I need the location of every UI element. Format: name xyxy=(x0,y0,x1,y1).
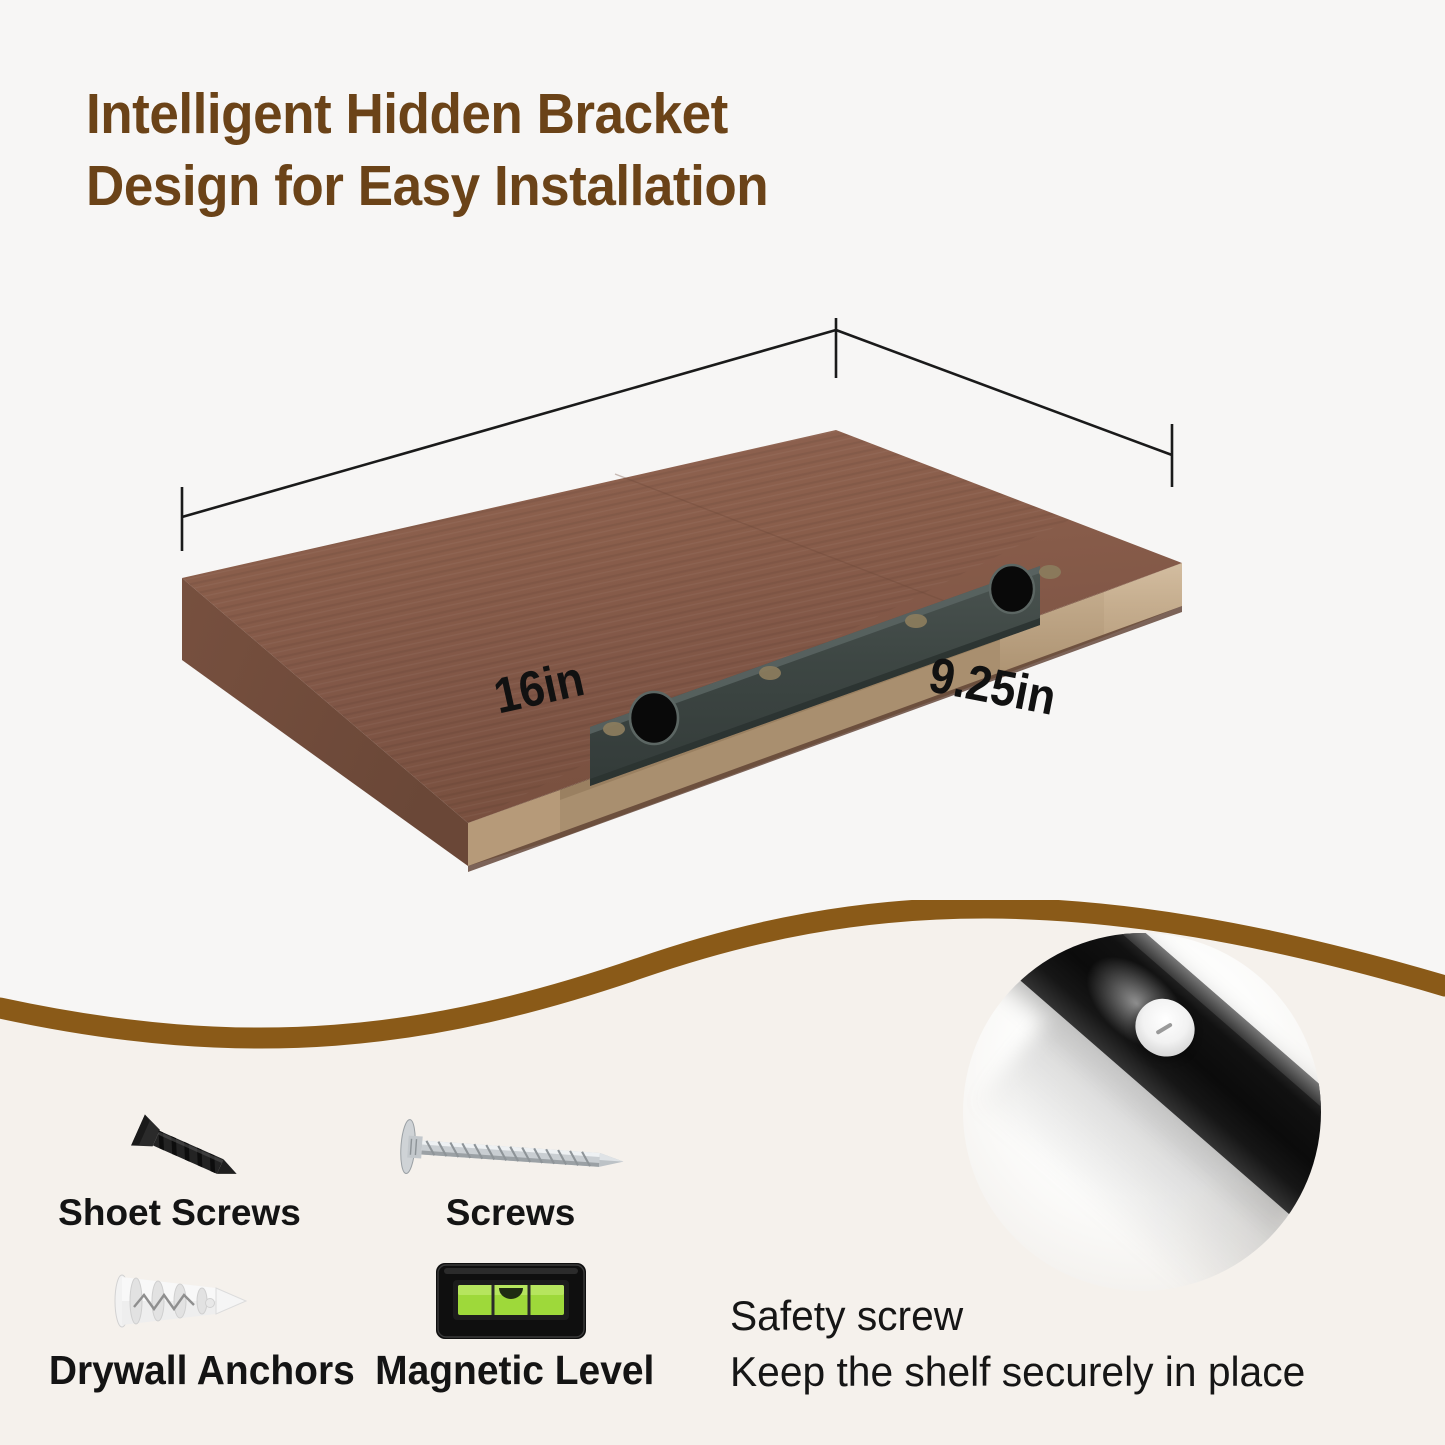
drywall-anchors-art xyxy=(42,1255,317,1347)
white-drywall-anchor-icon xyxy=(42,1255,317,1347)
dimension-depth-label: 9.25in xyxy=(924,646,1060,727)
black-countersunk-screw-icon xyxy=(42,1100,317,1192)
bubble-level-icon xyxy=(368,1255,653,1347)
silver-truss-head-screw-icon xyxy=(368,1100,653,1192)
hardware-item-shoet-screws: Shoet Screws xyxy=(42,1100,317,1234)
hardware-label-screws: Screws xyxy=(368,1192,653,1234)
shoet-screws-art xyxy=(42,1100,317,1192)
hardware-item-magnetic-level: Magnetic Level xyxy=(368,1255,653,1394)
hardware-item-drywall-anchors: Drywall Anchors xyxy=(42,1255,317,1394)
dimension-labels: 16in 9.25in xyxy=(0,300,1445,600)
hardware-label-magnetic-level: Magnetic Level xyxy=(375,1347,646,1394)
page-title: Intelligent Hidden Bracket Design for Ea… xyxy=(86,78,1109,222)
hardware-item-screws: Screws xyxy=(368,1100,653,1234)
dimension-width-label: 16in xyxy=(489,649,589,725)
safety-screw-caption: Safety screw Keep the shelf securely in … xyxy=(730,1288,1361,1400)
hardware-label-drywall-anchors: Drywall Anchors xyxy=(49,1347,310,1394)
safety-screw-photo xyxy=(963,933,1321,1291)
product-infographic: Intelligent Hidden Bracket Design for Ea… xyxy=(0,0,1445,1445)
screws-art xyxy=(368,1100,653,1192)
screw-slot xyxy=(1156,1023,1173,1036)
hardware-label-shoet-screws: Shoet Screws xyxy=(42,1192,317,1234)
magnetic-level-art xyxy=(368,1255,653,1347)
